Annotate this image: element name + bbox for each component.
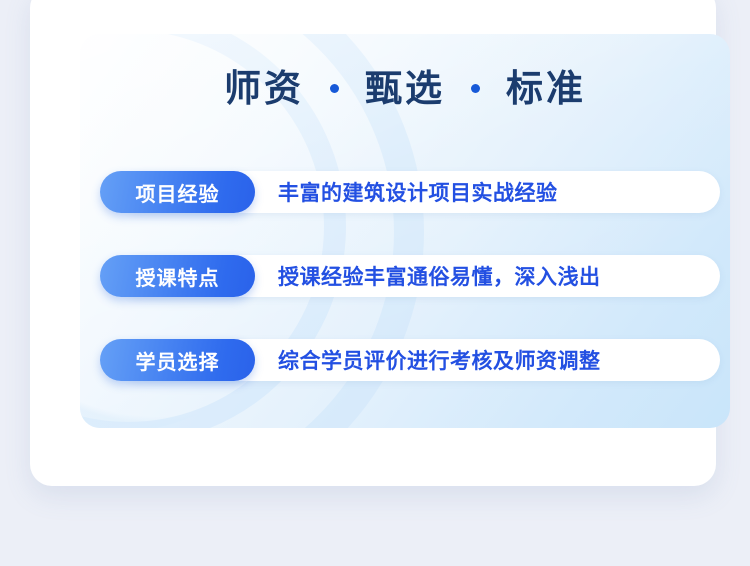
page-title-word-1: 师资 bbox=[224, 70, 304, 107]
page-title-word-2: 甄选 bbox=[365, 70, 445, 107]
feature-panel: 师资 甄选 标准 丰富的建筑设计项目实战经验 项目经验 授课经验丰富通俗易懂，深… bbox=[80, 34, 730, 428]
teacher-selection-card: 师资 甄选 标准 丰富的建筑设计项目实战经验 项目经验 授课经验丰富通俗易懂，深… bbox=[30, 0, 716, 486]
feature-badge-teaching-style: 授课特点 bbox=[100, 255, 255, 297]
feature-list: 丰富的建筑设计项目实战经验 项目经验 授课经验丰富通俗易懂，深入浅出 授课特点 … bbox=[100, 171, 730, 381]
list-item: 综合学员评价进行考核及师资调整 学员选择 bbox=[100, 339, 730, 381]
feature-description-2: 授课经验丰富通俗易懂，深入浅出 bbox=[278, 255, 601, 297]
title-separator-dot-icon bbox=[330, 84, 339, 93]
feature-description-3: 综合学员评价进行考核及师资调整 bbox=[278, 339, 601, 381]
list-item: 授课经验丰富通俗易懂，深入浅出 授课特点 bbox=[100, 255, 730, 297]
page-title-word-3: 标准 bbox=[506, 70, 586, 107]
feature-badge-project-experience: 项目经验 bbox=[100, 171, 255, 213]
page-title: 师资 甄选 标准 bbox=[80, 70, 730, 107]
feature-badge-student-choice: 学员选择 bbox=[100, 339, 255, 381]
feature-description-1: 丰富的建筑设计项目实战经验 bbox=[278, 171, 558, 213]
list-item: 丰富的建筑设计项目实战经验 项目经验 bbox=[100, 171, 730, 213]
title-separator-dot-icon bbox=[471, 84, 480, 93]
page-root: 师资 甄选 标准 丰富的建筑设计项目实战经验 项目经验 授课经验丰富通俗易懂，深… bbox=[0, 0, 750, 566]
